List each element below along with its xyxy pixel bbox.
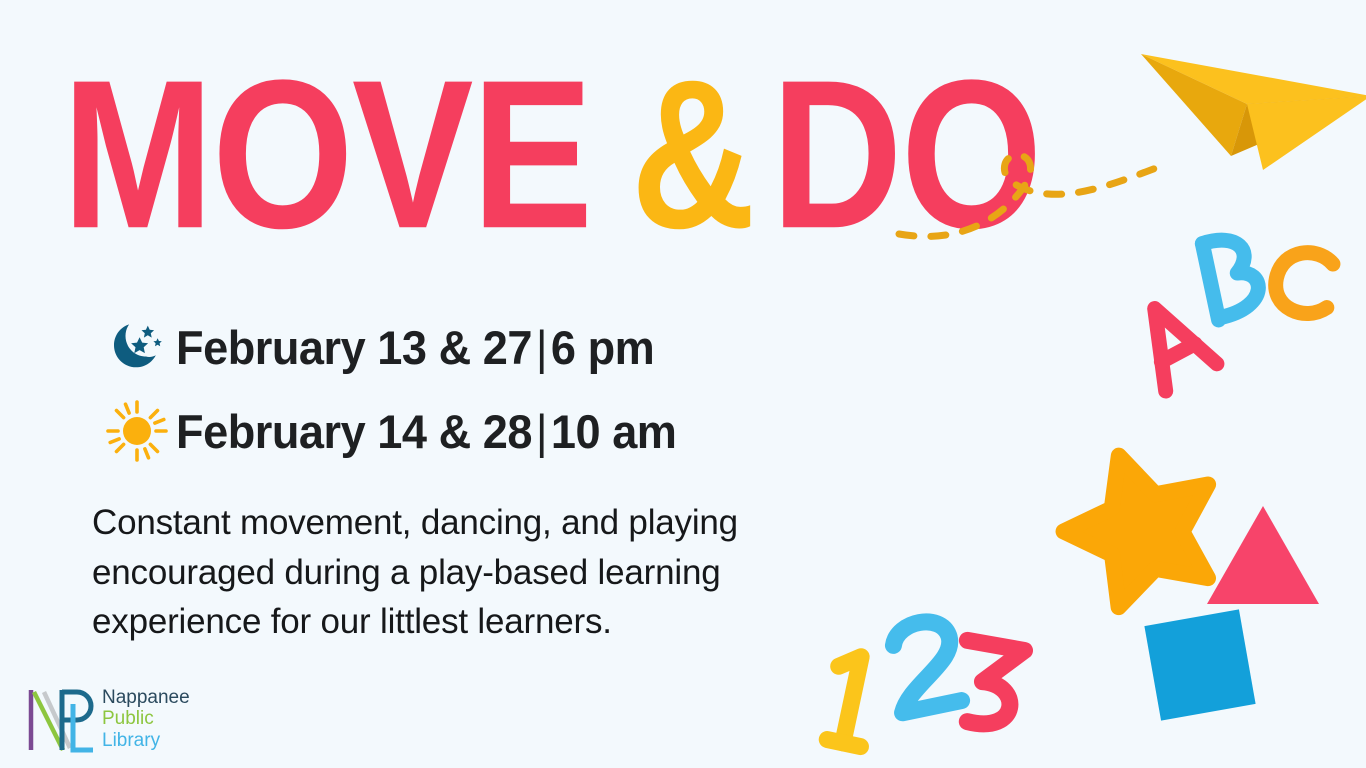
library-logo: Nappanee Public Library <box>22 680 190 758</box>
paper-plane-icon <box>1135 38 1366 178</box>
number-three-icon <box>940 625 1040 745</box>
schedule-separator-evening: | <box>532 321 551 374</box>
schedule-time-evening: 6 pm <box>551 321 654 374</box>
triangle-shape-icon <box>1203 500 1323 610</box>
schedule-separator-morning: | <box>532 405 551 458</box>
schedule-date-evening: February 13 & 27 <box>176 321 532 374</box>
schedule-date-morning: February 14 & 28 <box>176 405 532 458</box>
logo-line-library: Library <box>102 730 190 751</box>
poster-canvas: MOVE & DO February 13 & 27|6 pm <box>0 0 1366 768</box>
npl-monogram-icon <box>22 680 100 758</box>
logo-line-public: Public <box>102 708 190 729</box>
square-shape-icon <box>1140 605 1260 730</box>
description-text: Constant movement, dancing, and playing … <box>92 498 822 647</box>
schedule-row-morning: February 14 & 28|10 am <box>98 389 697 473</box>
schedule-text-evening: February 13 & 27|6 pm <box>176 320 654 375</box>
title-ampersand: & <box>631 62 754 248</box>
logo-line-nappanee: Nappanee <box>102 687 190 708</box>
schedule-row-evening: February 13 & 27|6 pm <box>98 305 697 389</box>
schedule-text-morning: February 14 & 28|10 am <box>176 404 676 459</box>
letter-c-icon <box>1258 238 1348 328</box>
title-word-move: MOVE <box>62 62 591 248</box>
moon-stars-icon <box>98 316 176 378</box>
schedule-time-morning: 10 am <box>551 405 677 458</box>
description-paragraph: Constant movement, dancing, and playing … <box>92 498 822 647</box>
schedule-list: February 13 & 27|6 pm <box>98 305 697 473</box>
dashed-flight-trail-icon <box>895 130 1165 250</box>
logo-wordmark: Nappanee Public Library <box>102 687 190 751</box>
sun-icon <box>98 398 176 464</box>
